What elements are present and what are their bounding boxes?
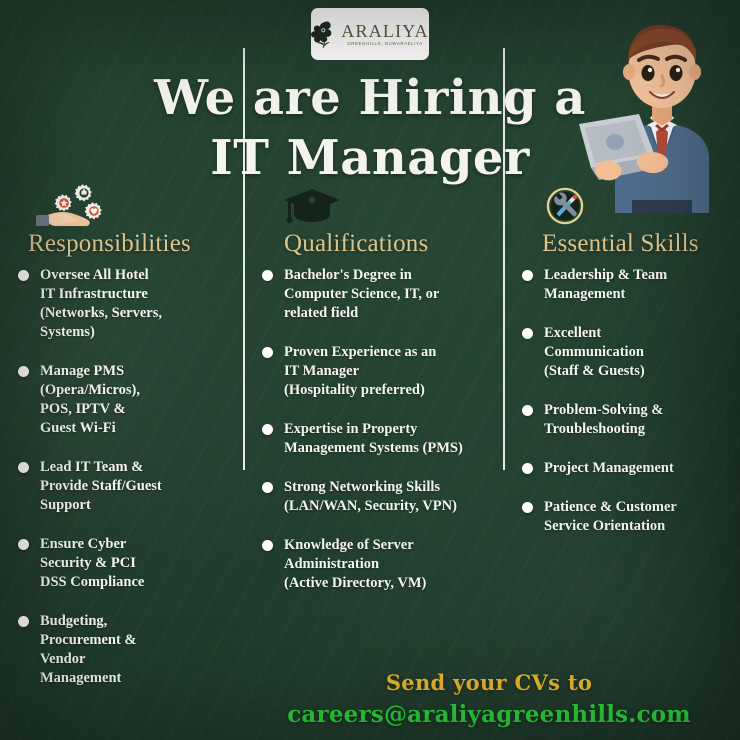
list-item: Strong Networking Skills (LAN/WAN, Secur… [258,478,496,516]
graduation-cap-icon [282,186,342,226]
column-essential-skills: Essential Skills Leadership & Team Manag… [504,186,740,661]
footer-contact: Send your CVs to careers@araliyagreenhil… [248,670,730,728]
list-item: Project Management [518,459,734,478]
column-responsibilities: Responsibilities Oversee All Hotel IT In… [0,186,244,661]
list-item: Problem-Solving & Troubleshooting [518,401,734,439]
hand-holding-gears-icon [36,186,102,226]
list-item: Bachelor's Degree in Computer Science, I… [258,266,496,323]
list-item: Proven Experience as an IT Manager (Hosp… [258,343,496,400]
brand-name: ARALIYA [341,22,428,40]
list-item: Oversee All Hotel IT Infrastructure (Net… [14,266,234,342]
column-header-responsibilities: Responsibilities [14,186,234,266]
list-item: Expertise in Property Management Systems… [258,420,496,458]
brand-logo-badge: ARALIYA GREENHILLS, NUWARAELIYA [311,8,429,60]
column-qualifications: Qualifications Bachelor's Degree in Comp… [244,186,504,661]
qualifications-list: Bachelor's Degree in Computer Science, I… [258,266,496,593]
column-title-responsibilities: Responsibilities [28,230,191,258]
list-item: Budgeting, Procurement & Vendor Manageme… [14,612,234,688]
list-item: Lead IT Team & Provide Staff/Guest Suppo… [14,458,234,515]
columns-container: Responsibilities Oversee All Hotel IT In… [0,186,740,661]
responsibilities-list: Oversee All Hotel IT Infrastructure (Net… [14,266,234,688]
list-item: Manage PMS (Opera/Micros), POS, IPTV & G… [14,362,234,438]
flower-rose-icon [311,19,337,49]
hiring-poster: ARALIYA GREENHILLS, NUWARAELIYA [0,0,740,740]
cta-text: Send your CVs to [248,670,730,695]
column-header-qualifications: Qualifications [258,186,496,266]
list-item: Ensure Cyber Security & PCI DSS Complian… [14,535,234,592]
list-item: Leadership & Team Management [518,266,734,304]
column-title-essential-skills: Essential Skills [542,230,699,258]
businessman-with-laptop-illustration [577,8,732,213]
tools-badge-icon [546,186,584,226]
contact-email[interactable]: careers@araliyagreenhills.com [248,701,730,728]
brand-subtitle: GREENHILLS, NUWARAELIYA [347,42,423,46]
list-item: Knowledge of Server Administration (Acti… [258,536,496,593]
column-title-qualifications: Qualifications [284,230,428,258]
essential-skills-list: Leadership & Team Management Excellent C… [518,266,734,536]
list-item: Excellent Communication (Staff & Guests) [518,324,734,381]
column-header-essential-skills: Essential Skills [518,186,734,266]
list-item: Patience & Customer Service Orientation [518,498,734,536]
brand-logo-text: ARALIYA GREENHILLS, NUWARAELIYA [341,22,428,47]
